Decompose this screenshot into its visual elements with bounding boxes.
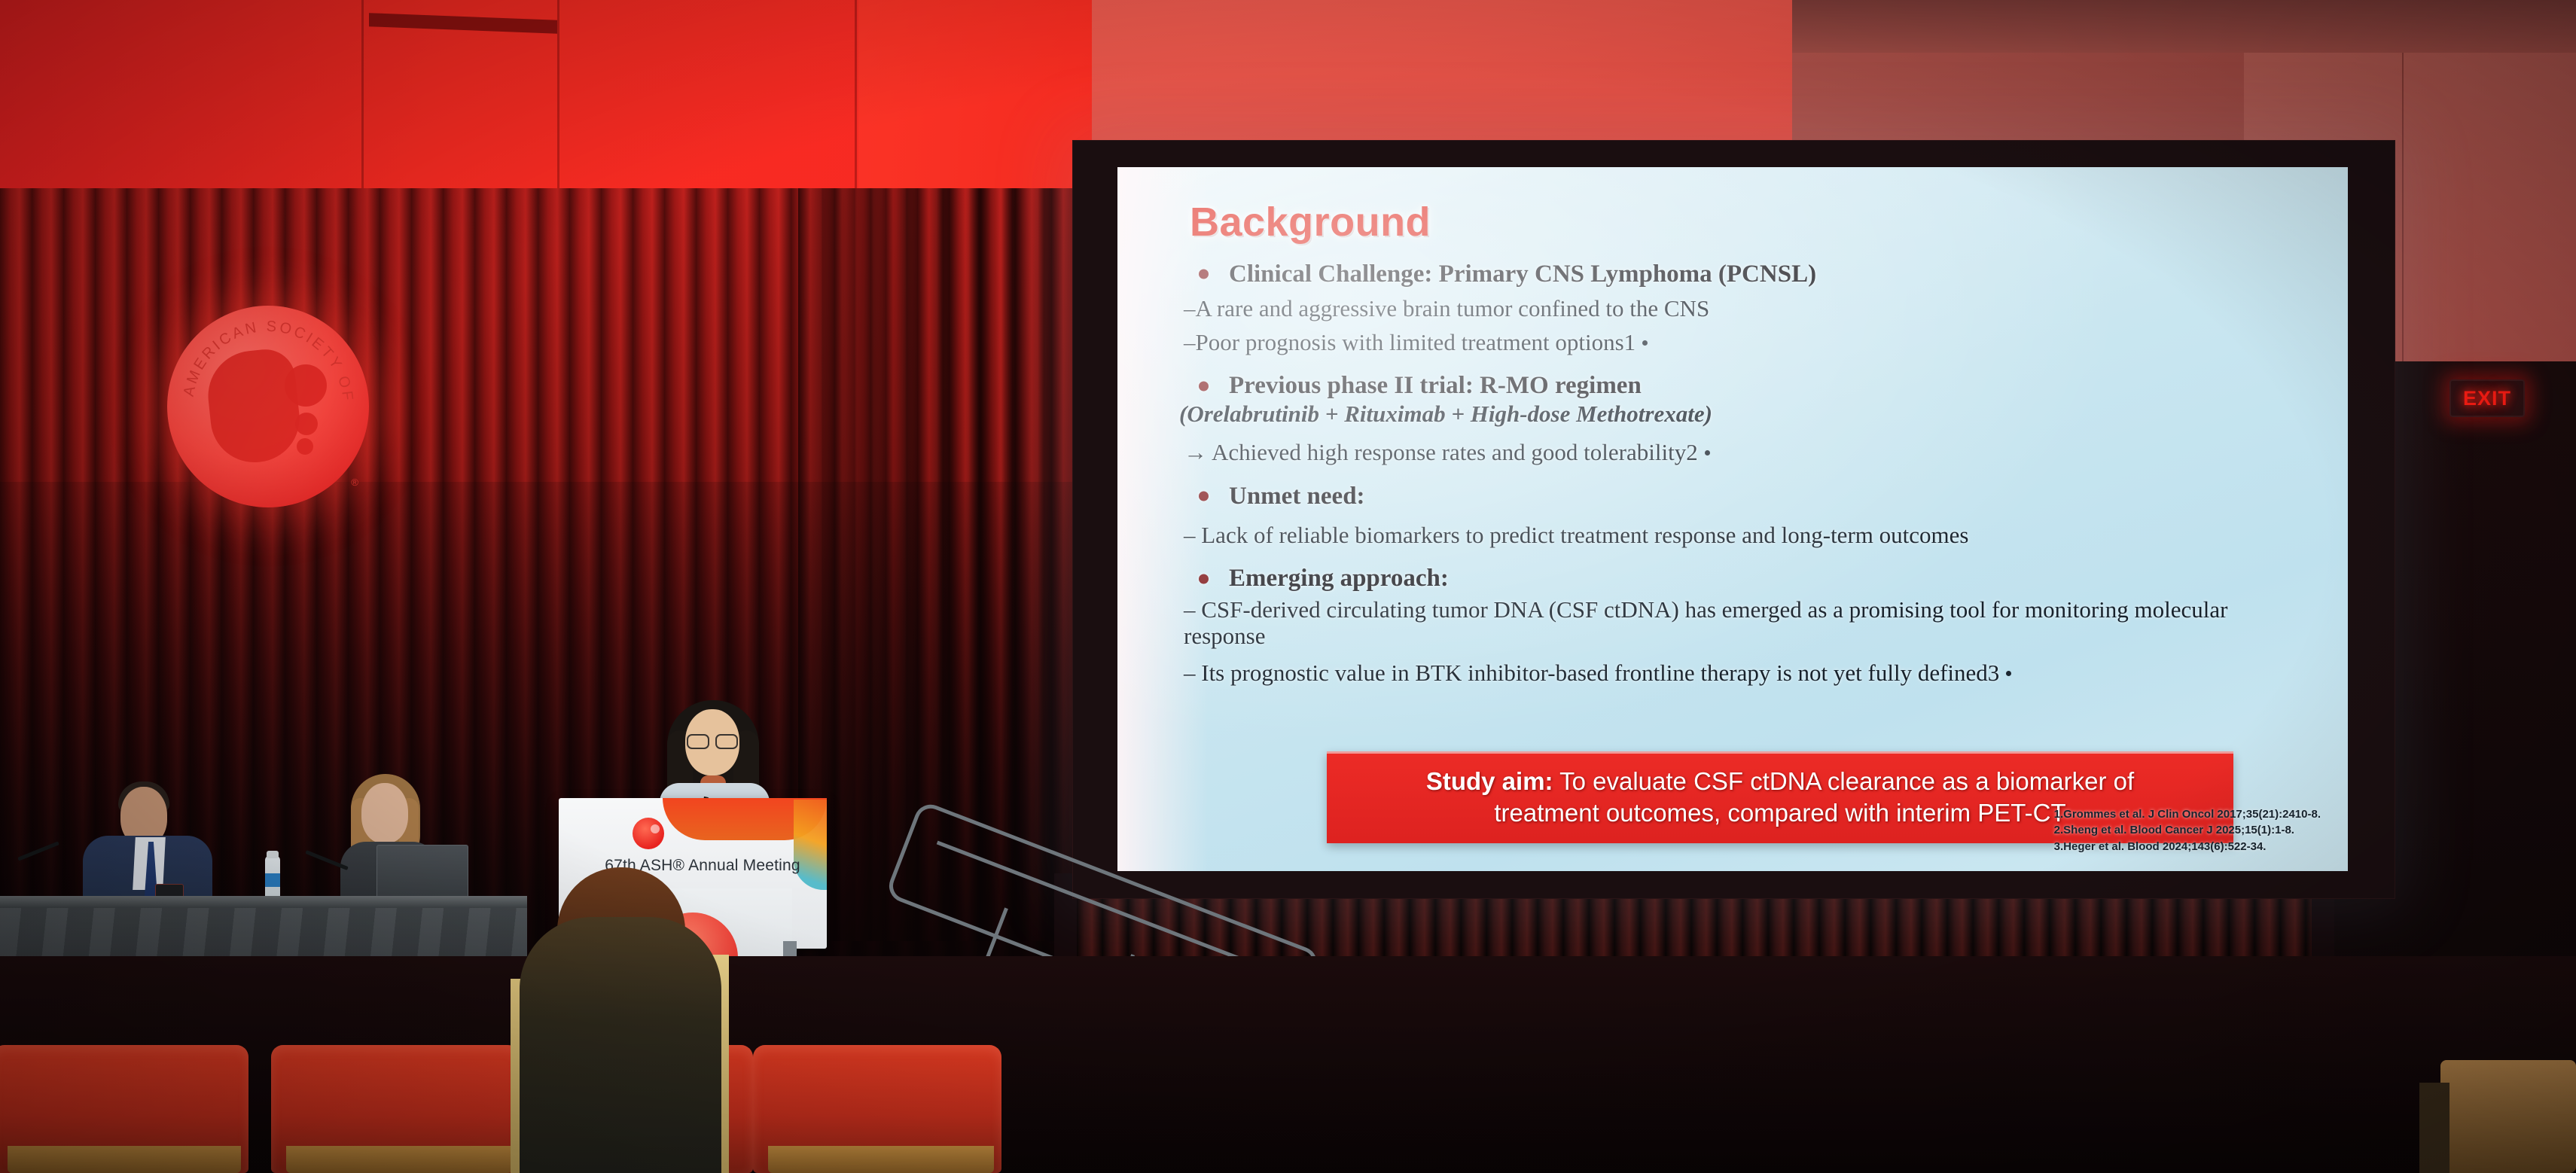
blood-drop-icon	[204, 346, 304, 467]
study-aim-label: Study aim:	[1426, 767, 1553, 795]
slide-dash-line: – Its prognostic value in BTK inhibitor-…	[1170, 660, 2315, 687]
wall-seam	[2402, 0, 2404, 392]
period-dot	[1642, 340, 1648, 346]
attendee-seated	[520, 917, 721, 1173]
ceiling-shadow	[1792, 0, 2576, 53]
slide-bullet-text: Previous phase II trial: R-MO regimen	[1229, 372, 1642, 399]
reference-item: 2.Sheng et al. Blood Cancer J 2025;15(1)…	[2054, 822, 2321, 838]
period-dot	[1705, 450, 1710, 455]
slide-bullet-heading: Previous phase II trial: R-MO regimen	[1170, 372, 2315, 400]
cell-circle-icon	[285, 364, 327, 407]
registered-mark: ®	[351, 477, 358, 488]
audience-chair-frame	[286, 1146, 512, 1173]
slide-dash-line: –A rare and aggressive brain tumor confi…	[1170, 296, 2315, 322]
podium-graphic-stripe	[794, 800, 827, 890]
red-wall-mid	[1092, 0, 1800, 151]
rear-chair-leg	[2419, 1083, 2449, 1173]
cell-circle-icon	[297, 438, 313, 455]
ash-logo-mark	[206, 343, 333, 470]
rear-wooden-chair	[2440, 1060, 2576, 1173]
audience-chair-frame	[8, 1146, 241, 1173]
slide-bullet-text: Emerging approach:	[1229, 565, 1449, 592]
slide-dash-text: –Poor prognosis with limited treatment o…	[1184, 329, 1636, 355]
exit-sign: EXIT	[2449, 379, 2525, 417]
laptop-screen	[376, 845, 468, 900]
wall-seam	[361, 0, 364, 203]
slide-italic-line: (Orelabrutinib + Rituximab + High-dose M…	[1170, 401, 2315, 428]
bullet-point-icon	[1199, 381, 1209, 391]
slide-dash-line: –Poor prognosis with limited treatment o…	[1170, 330, 2315, 356]
slide-dash-text: – Its prognostic value in BTK inhibitor-…	[1184, 660, 1999, 686]
slide-bullet-heading: Emerging approach:	[1170, 565, 2315, 593]
slide-references: 1.Grommes et al. J Clin Oncol 2017;35(21…	[2054, 806, 2321, 855]
reference-item: 3.Heger et al. Blood 2024;143(6):522-34.	[2054, 839, 2321, 855]
slide-dash-line: → Achieved high response rates and good …	[1170, 440, 2315, 466]
period-dot	[2006, 671, 2011, 676]
bullet-point-icon	[1199, 492, 1209, 501]
slide-bullet-text: Unmet need:	[1229, 483, 1365, 510]
reference-item: 1.Grommes et al. J Clin Oncol 2017;35(21…	[2054, 806, 2321, 822]
bullet-point-icon	[1199, 270, 1209, 279]
slide-dash-line: – Lack of reliable biomarkers to predict…	[1170, 523, 2315, 549]
ash-logo-icon	[633, 818, 664, 849]
slide-dash-text: → Achieved high response rates and good …	[1184, 439, 1698, 465]
wall-seam	[557, 0, 559, 203]
water-bottle-cap	[267, 851, 279, 858]
audience-chair-frame	[768, 1146, 994, 1173]
study-aim-line-1: Study aim: To evaluate CSF ctDNA clearan…	[1343, 766, 2217, 797]
study-aim-text: To evaluate CSF ctDNA clearance as a bio…	[1553, 767, 2135, 795]
slide-bullet-text: Clinical Challenge: Primary CNS Lymphoma…	[1229, 260, 1816, 288]
eyeglasses-icon	[687, 734, 738, 746]
conference-room-photo: AMERICAN SOCIETY OF HEMATOLOGY ® EXIT Ba…	[0, 0, 2576, 1173]
water-bottle-label	[265, 873, 280, 887]
projection-screen: Background Clinical Challenge: Primary C…	[1117, 167, 2348, 871]
slide-dash-line: – CSF-derived circulating tumor DNA (CSF…	[1170, 597, 2315, 649]
panelist-2-head	[361, 783, 408, 843]
red-wall-panel	[858, 0, 1092, 203]
panel-table-top	[0, 896, 527, 908]
cell-circle-icon	[295, 413, 318, 435]
slide-bullet-heading: Clinical Challenge: Primary CNS Lymphoma…	[1170, 260, 2315, 288]
bullet-point-icon	[1199, 574, 1209, 583]
wall-seam	[855, 0, 857, 203]
exit-sign-label: EXIT	[2463, 387, 2511, 410]
slide-bullet-heading: Unmet need:	[1170, 483, 2315, 510]
slide-body: Clinical Challenge: Primary CNS Lymphoma…	[1170, 257, 2315, 687]
ash-society-logo: AMERICAN SOCIETY OF HEMATOLOGY ®	[167, 306, 369, 507]
slide-title: Background	[1190, 199, 1431, 245]
